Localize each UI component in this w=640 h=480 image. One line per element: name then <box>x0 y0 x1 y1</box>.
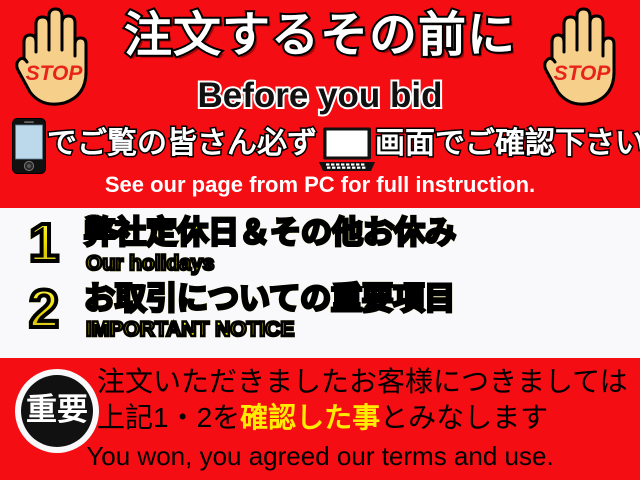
agreement-line-english: You won, you agreed our terms and use. <box>0 440 640 472</box>
notice-title-japanese: お取引についての重要項目 <box>84 280 455 318</box>
device-text-before: でご覧の皆さん必ず <box>47 126 317 162</box>
device-text-after: 画面でご確認下さい <box>375 126 640 162</box>
notice-title-english: Our holidays <box>86 251 214 277</box>
notice-item: 1 弊社定休日＆その他お休み Our holidays <box>0 214 640 284</box>
agreement-highlight: 確認した事 <box>240 402 380 433</box>
header-panel: STOP STOP 注文するその前に Before you bid <box>0 0 640 208</box>
agreement-line-2-post: とみなします <box>380 402 548 433</box>
notice-list-panel: 1 弊社定休日＆その他お休み Our holidays 2 お取引についての重要… <box>0 208 640 358</box>
notice-title-japanese: 弊社定休日＆その他お休み <box>84 214 456 252</box>
svg-text:重要: 重要 <box>26 392 88 427</box>
notice-item: 2 お取引についての重要項目 IMPORTANT NOTICE <box>0 280 640 350</box>
notice-number: 2 <box>18 278 70 340</box>
agreement-line-1: 注文いただきましたお客様につきましては <box>97 364 628 400</box>
headline-english: Before you bid <box>0 75 640 117</box>
smartphone-icon <box>12 118 46 174</box>
device-instruction-row: でご覧の皆さん必ず <box>0 118 640 170</box>
agreement-line-2-pre: 上記1・2を <box>97 402 240 433</box>
headline-japanese: 注文するその前に <box>0 6 640 66</box>
before-you-bid-banner: STOP STOP 注文するその前に Before you bid <box>0 0 640 480</box>
notice-number: 1 <box>18 212 70 274</box>
laptop-icon <box>318 127 376 173</box>
device-caption-english: See our page from PC for full instructio… <box>0 172 640 198</box>
agreement-panel: 重要 注文いただきましたお客様につきましては 上記1・2を確認した事とみなします… <box>0 358 640 480</box>
agreement-line-2: 上記1・2を確認した事とみなします <box>97 400 548 436</box>
notice-title-english: IMPORTANT NOTICE <box>86 317 294 343</box>
